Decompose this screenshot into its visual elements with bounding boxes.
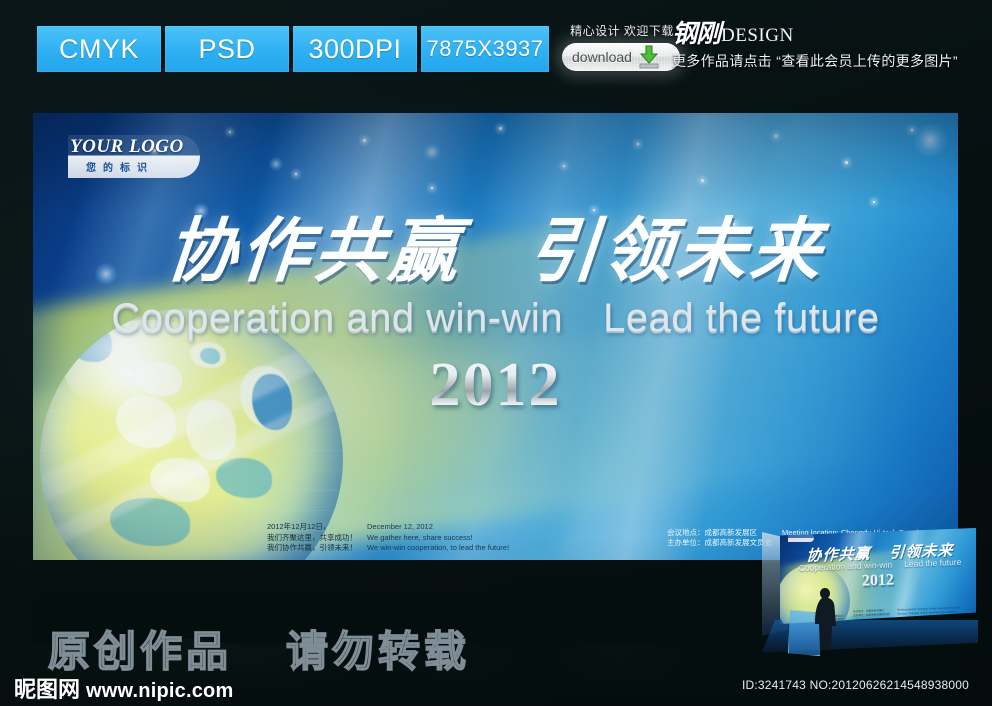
poster-year: 2012 — [33, 350, 958, 421]
site-name-cn: 昵图网 — [14, 672, 80, 704]
spec-tag-bar: CMYK PSD 300DPI 7875X3937 — [37, 26, 549, 72]
mockup-preview[interactable]: 协作共赢 引领未来 Cooperation and win-winLead th… — [762, 524, 978, 664]
info-cn-right: 会议地点：成都高新发展区 主办单位：成都高新发展文员会 — [667, 528, 772, 549]
poster-headline-en-left: Cooperation and win-win — [111, 296, 563, 340]
designer-brand-row: 钢刚 DESIGN — [672, 22, 958, 48]
info-cn-left: 2012年12月12日， 我们齐聚这里，共享成功！ 我们协作共赢，引领未来！ — [267, 522, 357, 554]
watermark-line-1: 原创作品 — [48, 618, 232, 679]
watermark-no-reprint: 原创作品 请勿转载 — [48, 618, 470, 679]
tag-dimensions: 7875X3937 — [421, 26, 549, 72]
designer-brand-cn: 钢刚 — [672, 22, 720, 48]
download-button[interactable]: download — [562, 43, 680, 71]
tag-resolution: 300DPI — [293, 26, 417, 72]
tag-colormode-label: CMYK — [59, 34, 139, 65]
designer-brand-latin: DESIGN — [721, 24, 794, 48]
tag-resolution-label: 300DPI — [308, 34, 401, 65]
site-url[interactable]: www.nipic.com — [86, 680, 233, 703]
mockup-logo — [788, 534, 814, 542]
download-arrow-icon — [636, 44, 662, 70]
designer-brand-subtitle[interactable]: 更多作品请点击 “查看此会员上传的更多图片” — [672, 51, 958, 71]
poster-headline-en-right: Lead the future — [603, 296, 880, 340]
info-en-left: December 12, 2012 We gather here, share … — [367, 522, 509, 554]
watermark-line-2: 请勿转载 — [286, 618, 470, 679]
download-caption: 精心设计 欢迎下载 — [562, 24, 682, 38]
tag-filetype: PSD — [165, 26, 289, 72]
client-logo-title: YOUR LOGO — [70, 136, 184, 158]
poster-headline-en: Cooperation and win-winLead the future — [33, 296, 958, 341]
download-block: 精心设计 欢迎下载 download — [562, 24, 682, 71]
tag-filetype-label: PSD — [198, 34, 255, 65]
mockup-banner-board: 协作共赢 引领未来 Cooperation and win-winLead th… — [780, 528, 976, 624]
designer-brand-block: 钢刚 DESIGN 更多作品请点击 “查看此会员上传的更多图片” — [672, 22, 958, 71]
tag-colormode: CMYK — [37, 26, 161, 72]
screenshot-root: CMYK PSD 300DPI 7875X3937 精心设计 欢迎下载 down… — [0, 0, 992, 706]
asset-id-line: ID:3241743 NO:20120626214548938000 — [742, 678, 969, 692]
mockup-person-silhouette — [814, 586, 836, 650]
download-button-label: download — [562, 49, 632, 65]
client-logo-subtitle: 您的标识 — [86, 159, 154, 174]
client-logo: YOUR LOGO 您的标识 — [68, 135, 200, 178]
tag-dimensions-label: 7875X3937 — [426, 36, 543, 62]
site-branding: 昵图网 www.nipic.com — [14, 672, 233, 704]
